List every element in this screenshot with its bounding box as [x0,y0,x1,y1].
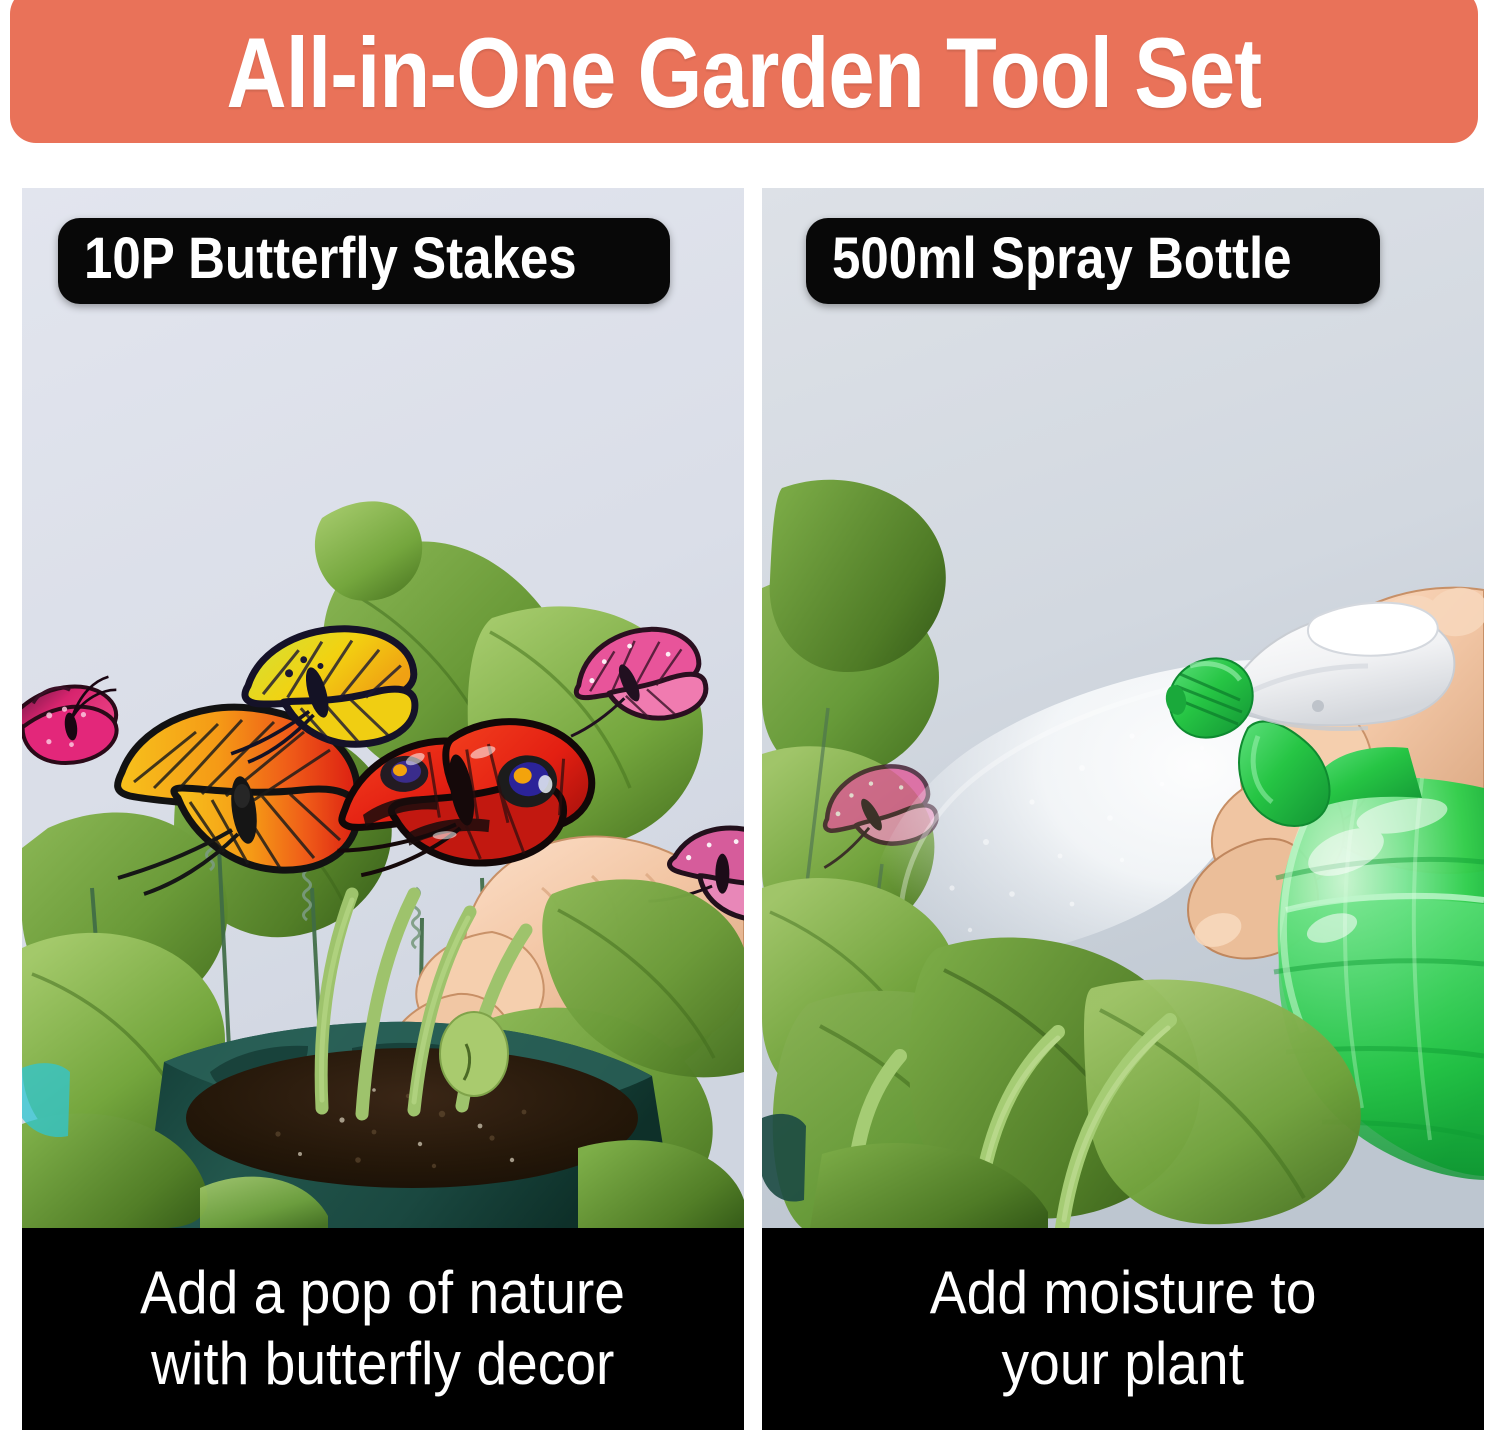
caption-line-1: Add moisture to [930,1258,1317,1329]
spray-bottle-photo [762,188,1484,1228]
product-panel-butterfly-stakes: 10P Butterfly Stakes Add a pop of nature… [22,188,744,1430]
butterfly-stakes-photo [22,188,744,1228]
badge-label: 500ml Spray Bottle [832,230,1292,288]
badge-label: 10P Butterfly Stakes [84,230,577,288]
caption-spray-bottle: Add moisture to your plant [762,1228,1484,1430]
badge-butterfly-stakes: 10P Butterfly Stakes [58,218,670,304]
page-title: All-in-One Garden Tool Set [227,9,1262,122]
caption-line-2: your plant [1002,1329,1244,1400]
caption-line-1: Add a pop of nature [141,1258,626,1329]
product-panel-spray-bottle: 500ml Spray Bottle Add moisture to your … [762,188,1484,1430]
header-banner: All-in-One Garden Tool Set [10,0,1478,143]
caption-butterfly-stakes: Add a pop of nature with butterfly decor [22,1228,744,1430]
badge-spray-bottle: 500ml Spray Bottle [806,218,1380,304]
caption-line-2: with butterfly decor [151,1329,614,1400]
